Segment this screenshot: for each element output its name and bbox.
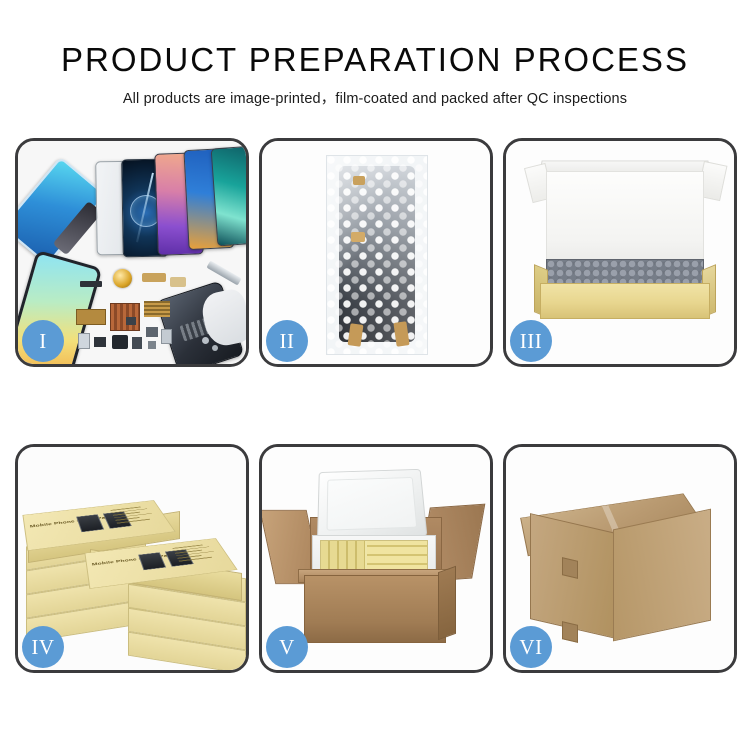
foam-insert-lid: [317, 469, 427, 540]
step-badge-5: V: [266, 626, 308, 668]
process-step-grid: I II: [15, 138, 737, 673]
flex-cable-right-part: [144, 301, 170, 317]
process-step-panel-6: VI: [503, 444, 737, 673]
step-badge-6: VI: [510, 626, 552, 668]
bubble-wrap-bag-image: [326, 155, 428, 355]
page-title: PRODUCT PREPARATION PROCESS: [0, 42, 750, 78]
sealed-carton-right-face: [613, 509, 711, 642]
process-step-panel-5: V: [259, 444, 493, 673]
carton-tab-2: [562, 621, 578, 643]
carton-side-right: [438, 566, 456, 641]
box-label-spec-lines-1: [110, 505, 164, 530]
small-part-2: [94, 337, 106, 347]
gold-coil-part: [113, 269, 132, 288]
box-label-spec-lines-2: [172, 543, 226, 568]
page-subtitle: All products are image-printed，film-coat…: [0, 87, 750, 108]
teal-swoosh-screen-image: [211, 146, 246, 247]
small-part-6: [148, 341, 156, 349]
process-step-panel-3: III: [503, 138, 737, 367]
flex-cable-left-part: [76, 309, 106, 325]
tweezers-image: [206, 261, 241, 286]
process-step-panel-4: Mobile Phone Spare Parts Mobile Phone Sp…: [15, 444, 249, 673]
screw-2: [212, 345, 218, 351]
connector-a-part: [142, 273, 166, 282]
connector-b-part: [170, 277, 186, 287]
tape-piece-2: [351, 232, 365, 242]
step-badge-1: I: [22, 320, 64, 362]
step-badge-4: IV: [22, 626, 64, 668]
process-step-panel-2: II: [259, 138, 493, 367]
small-part-1: [78, 333, 90, 349]
small-part-7: [126, 317, 136, 325]
small-part-5: [146, 327, 158, 337]
plastic-sheen: [327, 156, 427, 354]
step-badge-3: III: [510, 320, 552, 362]
carton-tab-1: [562, 557, 578, 579]
mailer-back-wall: [546, 171, 704, 269]
step-badge-2: II: [266, 320, 308, 362]
blue-back-panel-image: [18, 156, 107, 265]
header: PRODUCT PREPARATION PROCESS All products…: [0, 0, 750, 108]
black-bar-part: [80, 281, 102, 287]
tape-piece-1: [353, 176, 365, 185]
mailer-front-wall: [540, 283, 710, 319]
small-part-8: [161, 329, 172, 344]
small-part-4: [132, 337, 142, 349]
screw-1: [202, 337, 209, 344]
process-step-panel-1: I: [15, 138, 249, 367]
small-part-3: [112, 335, 128, 349]
product-preparation-process-infographic: PRODUCT PREPARATION PROCESS All products…: [0, 0, 750, 750]
carton-front-wall: [304, 575, 446, 643]
